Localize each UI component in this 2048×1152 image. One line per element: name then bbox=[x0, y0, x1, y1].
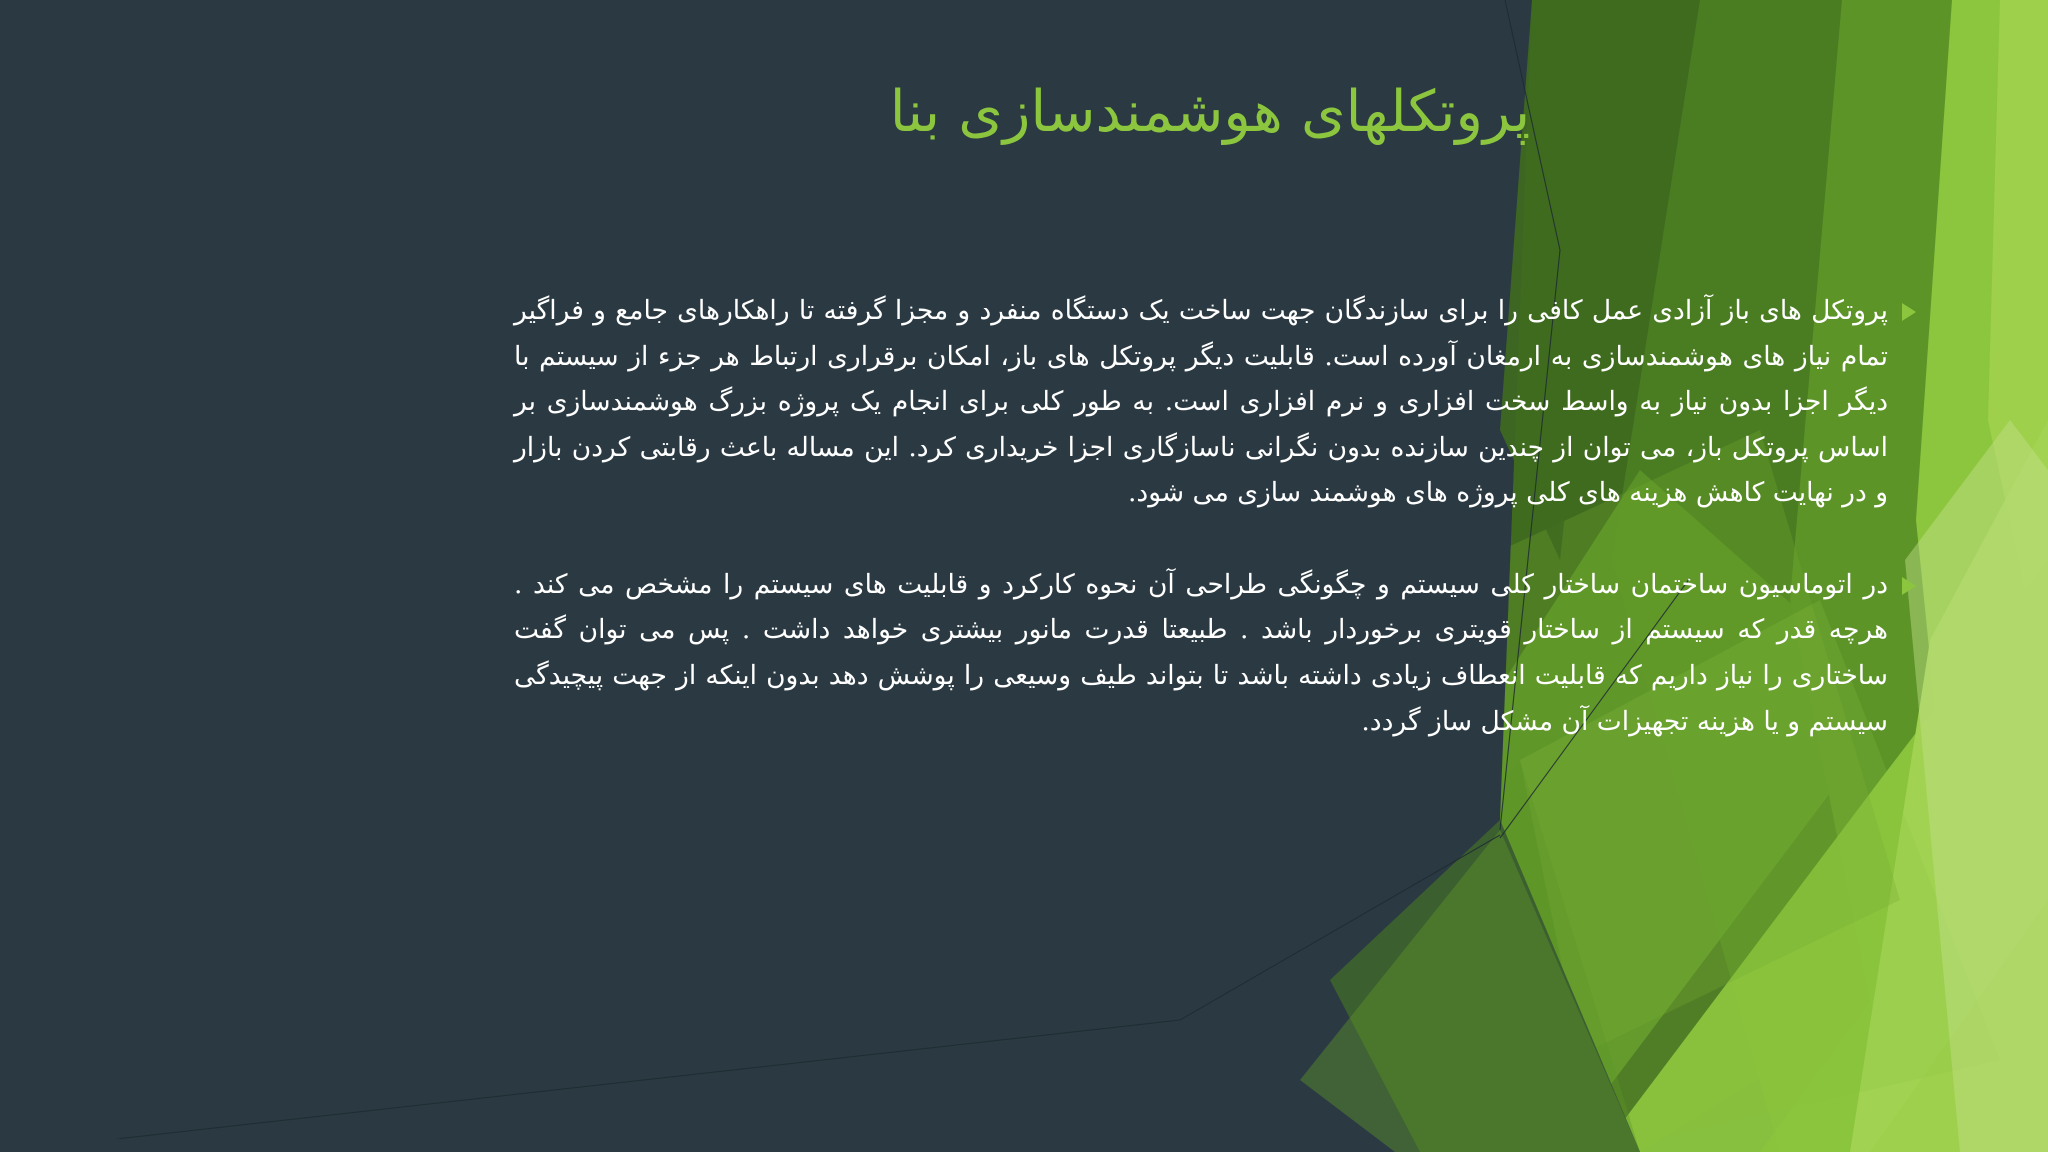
list-item: در اتوماسیون ساختمان ساختار کلی سیستم و … bbox=[510, 562, 1930, 744]
presentation-slide: پروتکلهای هوشمندسازی بنا پروتکل های باز … bbox=[0, 0, 2048, 1152]
page-title: پروتکلهای هوشمندسازی بنا bbox=[500, 78, 1920, 148]
shape-forest-lower-sliver bbox=[1330, 820, 1640, 1152]
shape-green-lower-sliver bbox=[1300, 830, 1640, 1152]
title-container: پروتکلهای هوشمندسازی بنا bbox=[500, 78, 1920, 148]
bullet-paragraph-1: پروتکل های باز آزادی عمل کافی را برای سا… bbox=[510, 288, 1888, 516]
shape-olive-overlay-corner bbox=[1200, 760, 1640, 1152]
triangle-right-bullet-icon bbox=[1888, 562, 1930, 596]
shape-slate-corner bbox=[0, 1130, 300, 1152]
list-item: پروتکل های باز آزادی عمل کافی را برای سا… bbox=[510, 288, 1930, 516]
body-content: پروتکل های باز آزادی عمل کافی را برای سا… bbox=[510, 288, 1930, 790]
bullet-paragraph-2: در اتوماسیون ساختمان ساختار کلی سیستم و … bbox=[510, 562, 1888, 744]
shape-light-green-strip bbox=[1916, 0, 2048, 1152]
hairline-lower bbox=[0, 835, 1500, 1152]
shape-slate-bottom-left bbox=[0, 1040, 1180, 1152]
triangle-right-bullet-icon bbox=[1888, 288, 1930, 322]
shape-pale-highlight-sliver bbox=[1988, 0, 2048, 700]
shape-bottom-pale-facet bbox=[1500, 900, 2048, 1152]
shape-bottom-mid-facet bbox=[1330, 760, 2048, 1152]
